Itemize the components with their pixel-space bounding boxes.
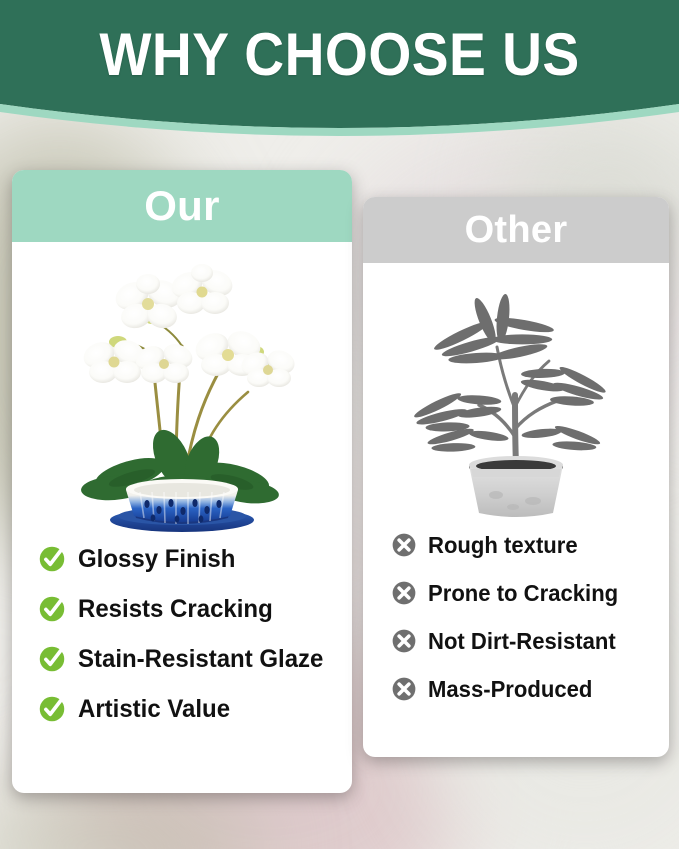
card-our-header: Our (12, 170, 352, 242)
list-item: Not Dirt-Resistant (391, 617, 669, 665)
feature-label: Not Dirt-Resistant (428, 628, 616, 655)
card-other[interactable]: Other (363, 197, 669, 757)
list-item: Artistic Value (38, 684, 352, 734)
list-item: Prone to Cracking (391, 569, 669, 617)
feature-label: Stain-Resistant Glaze (78, 645, 323, 674)
card-other-body: Rough texture Prone to Cracking Not Dirt… (363, 263, 669, 518)
card-our-body: Glossy Finish Resists Cracking Stain-Res… (12, 242, 352, 532)
check-circle-icon (38, 595, 66, 623)
feature-label: Rough texture (428, 532, 578, 559)
palm-illustration (401, 269, 631, 519)
feature-label: Resists Cracking (78, 595, 273, 624)
x-circle-icon (391, 580, 417, 606)
page-title: WHY CHOOSE US (27, 20, 652, 89)
infographic-canvas: WHY CHOOSE US Our (0, 0, 679, 849)
list-item: Resists Cracking (38, 584, 352, 634)
feature-label: Mass-Produced (428, 676, 592, 703)
feature-label: Glossy Finish (78, 545, 235, 574)
white-orchid-plant (52, 242, 312, 532)
list-item: Rough texture (391, 521, 669, 569)
list-item: Glossy Finish (38, 534, 352, 584)
card-our-title: Our (144, 182, 220, 230)
feature-list-other: Rough texture Prone to Cracking Not Dirt… (363, 521, 669, 713)
x-circle-icon (391, 676, 417, 702)
card-our[interactable]: Our (12, 170, 352, 793)
product-image-other (363, 263, 669, 518)
feature-label: Artistic Value (78, 695, 230, 724)
orchid-illustration (52, 242, 312, 532)
grayscale-palm-plant (401, 269, 631, 519)
card-other-title: Other (465, 209, 568, 252)
check-circle-icon (38, 645, 66, 673)
x-circle-icon (391, 628, 417, 654)
x-circle-icon (391, 532, 417, 558)
list-item: Stain-Resistant Glaze (38, 634, 352, 684)
feature-label: Prone to Cracking (428, 580, 618, 607)
check-circle-icon (38, 695, 66, 723)
header-banner: WHY CHOOSE US (0, 0, 679, 150)
feature-list-our: Glossy Finish Resists Cracking Stain-Res… (12, 534, 352, 734)
check-circle-icon (38, 545, 66, 573)
list-item: Mass-Produced (391, 665, 669, 713)
product-image-our (12, 242, 352, 532)
card-other-header: Other (363, 197, 669, 263)
